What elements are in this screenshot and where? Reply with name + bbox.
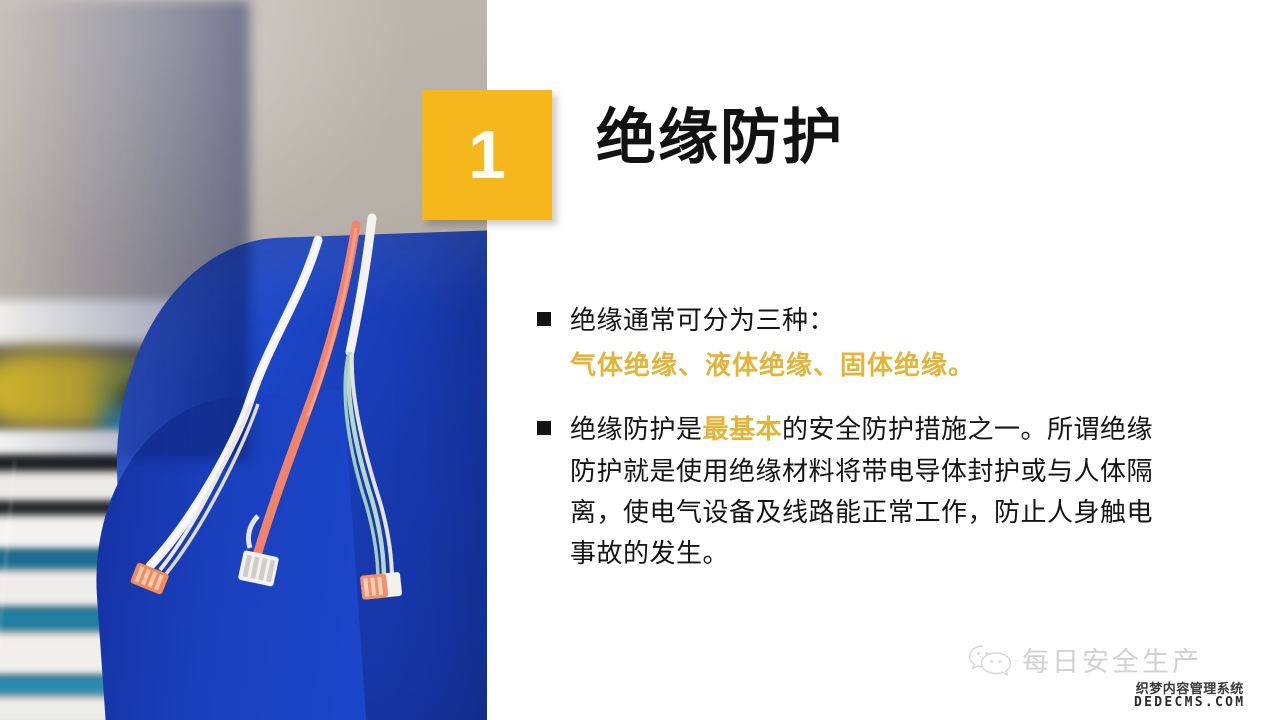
- section-number-badge: 1: [422, 90, 552, 220]
- bullet-2-highlight: 最基本: [703, 414, 783, 444]
- bullet-1-subline: 气体绝缘、液体绝缘、固体绝缘。: [570, 347, 1177, 383]
- slide-canvas: 1 绝缘防护 绝缘通常可分为三种： 气体绝缘、液体绝缘、固体绝缘。 绝缘防护是最…: [0, 0, 1280, 720]
- dedecms-stamp-en: DEDECMS.COM: [1134, 696, 1245, 710]
- wechat-icon: [968, 643, 1012, 677]
- bullet-square-icon: [537, 421, 551, 435]
- bullet-2-text: 绝缘防护是最基本的安全防护措施之一。所谓绝缘防护就是使用绝缘材料将带电导体封护或…: [570, 409, 1177, 573]
- dedecms-stamp-cn: 织梦内容管理系统: [1134, 682, 1245, 696]
- watermark-account-name: 每日安全生产: [1022, 640, 1202, 679]
- bullet-item-1: 绝缘通常可分为三种：: [537, 300, 1177, 341]
- body-content: 绝缘通常可分为三种： 气体绝缘、液体绝缘、固体绝缘。 绝缘防护是最基本的安全防护…: [537, 300, 1177, 574]
- section-number: 1: [468, 121, 506, 189]
- page-title: 绝缘防护: [596, 104, 844, 171]
- photo-cables: [0, 0, 487, 720]
- bullet-square-icon: [537, 312, 551, 326]
- bullet-1-text: 绝缘通常可分为三种：: [570, 300, 835, 341]
- slide-photo: [0, 0, 487, 720]
- bullet-item-2: 绝缘防护是最基本的安全防护措施之一。所谓绝缘防护就是使用绝缘材料将带电导体封护或…: [537, 409, 1177, 573]
- bullet-2-text-before: 绝缘防护是: [570, 414, 703, 444]
- watermark: 每日安全生产: [968, 640, 1202, 679]
- dedecms-stamp: 织梦内容管理系统 DEDECMS.COM: [1134, 682, 1245, 709]
